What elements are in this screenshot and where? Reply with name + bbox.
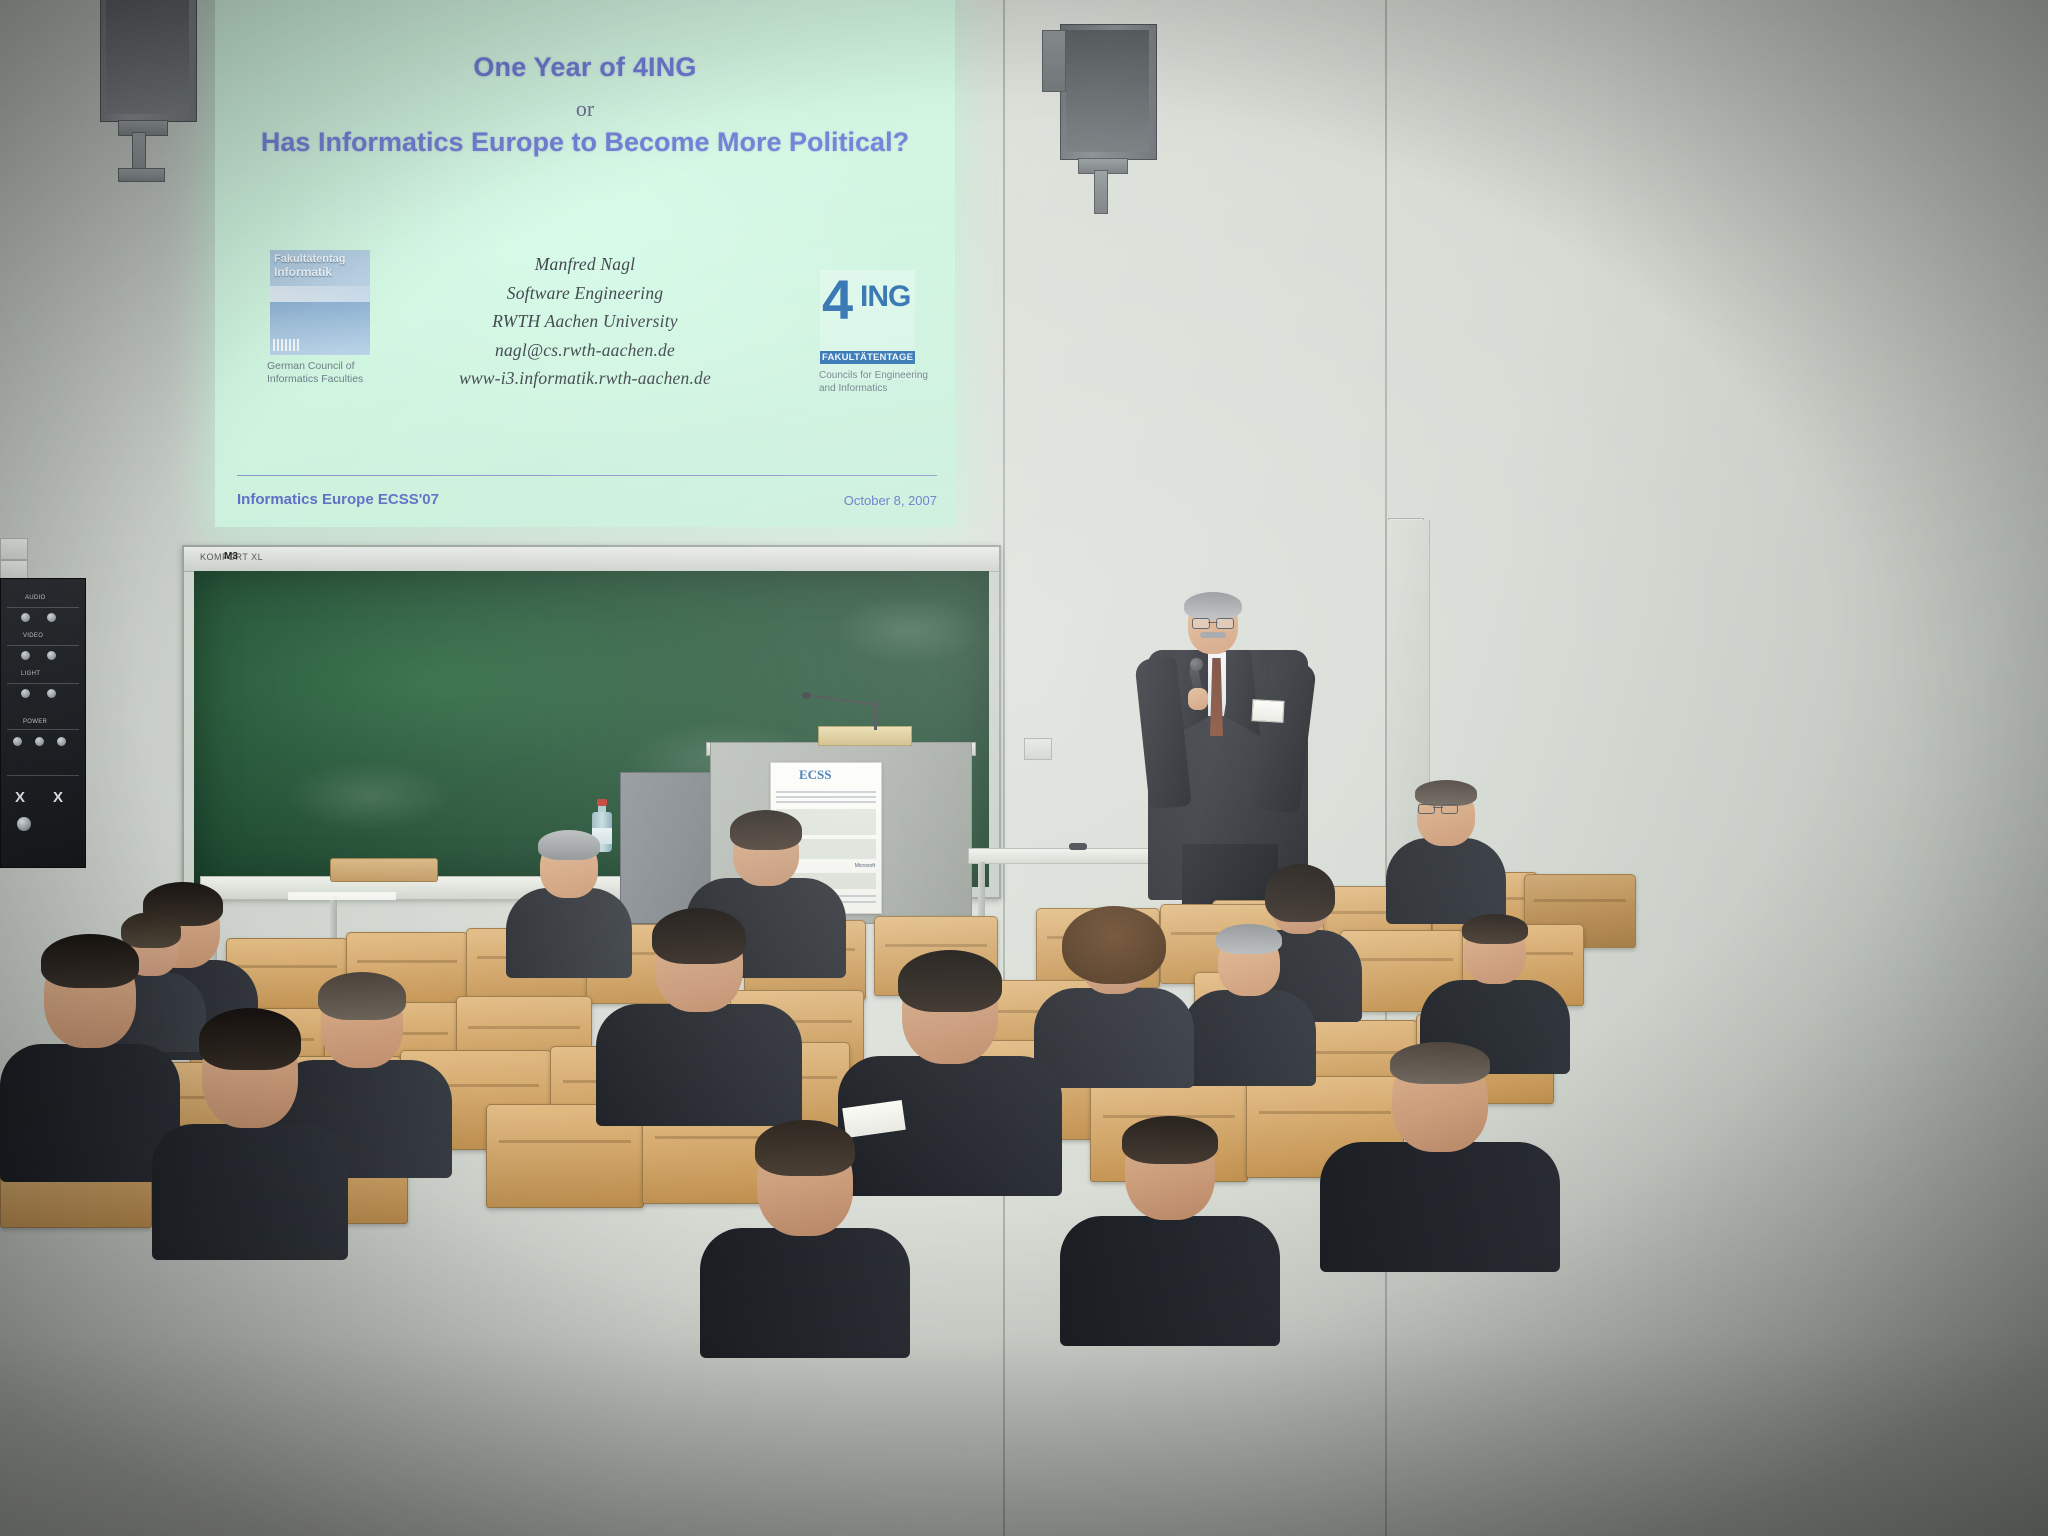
- panel-knob[interactable]: [35, 737, 44, 746]
- eyeglasses-icon: [1192, 618, 1234, 627]
- panel-knob[interactable]: [47, 613, 56, 622]
- av-control-panel[interactable]: AUDIO VIDEO LIGHT POWER X X: [0, 578, 86, 868]
- panel-knob[interactable]: [57, 737, 66, 746]
- chalk-tray: KOMFORT XL M3: [184, 547, 999, 572]
- person-hair: [730, 810, 802, 850]
- person-hair: [1265, 864, 1335, 922]
- person-hair: [1062, 906, 1166, 984]
- wall-plate-lower: [0, 560, 28, 580]
- person-hair: [41, 934, 139, 988]
- audience-person: [596, 908, 802, 1120]
- panel-knob[interactable]: [13, 737, 22, 746]
- chalk-smudge: [284, 761, 454, 831]
- wall-speaker-right: [1060, 24, 1155, 158]
- lecture-hall-photo: One Year of 4ING or Has Informatics Euro…: [0, 0, 2048, 1536]
- caption-line-1: Councils for Engineering: [819, 370, 949, 383]
- person-shoulders: [1182, 990, 1316, 1086]
- audience-person: [1182, 924, 1316, 1070]
- presenter-hand: [1188, 688, 1208, 710]
- person-hair: [652, 908, 746, 964]
- chalk-smudge: [834, 595, 984, 665]
- slide-connector: or: [215, 96, 955, 122]
- person-hair: [1415, 780, 1477, 806]
- microphone-head-icon: [802, 692, 811, 699]
- audience-person: [1320, 1042, 1560, 1262]
- caption-line-2: and Informatics: [819, 383, 949, 396]
- board-label-brand: M3: [224, 551, 238, 562]
- person-hair: [755, 1120, 855, 1176]
- wall-seam: [1003, 0, 1005, 1536]
- speaker-cable-conduit-right: [1042, 30, 1066, 92]
- front-chair[interactable]: [330, 858, 438, 882]
- slide-footer-left: Informatics Europe ECSS'07: [237, 491, 439, 508]
- person-hair: [199, 1008, 301, 1070]
- ecss-logo-text: ECSS: [799, 767, 832, 783]
- audience-person: [152, 1008, 348, 1248]
- ecss-logo: ECSS: [799, 767, 851, 787]
- panel-knob[interactable]: [21, 689, 30, 698]
- podium-shelf-item: [818, 726, 912, 746]
- panel-knob[interactable]: [21, 613, 30, 622]
- slide-title: One Year of 4ING: [215, 52, 955, 83]
- table-papers: [288, 892, 396, 900]
- audience-person: [700, 1118, 910, 1338]
- speaker-grille: [106, 0, 189, 114]
- person-hair: [1462, 914, 1528, 944]
- presenter-hair: [1184, 592, 1242, 620]
- audience-person: [1060, 1120, 1280, 1340]
- eyeglasses-icon: [1418, 804, 1458, 812]
- slide-divider: [237, 475, 937, 476]
- person-shoulders: [1320, 1142, 1560, 1272]
- person-hair: [538, 830, 600, 860]
- 4ing-logo-caption: Councils for Engineering and Informatics: [819, 370, 949, 395]
- speaker-grille: [1066, 30, 1149, 152]
- 4ing-logo: 4 ING FAKULTÄTENTAGE: [820, 270, 915, 380]
- speaker-arm-right: [1094, 170, 1108, 214]
- speaker-bracket-left: [118, 168, 165, 182]
- 4ing-logo-numeral: 4: [822, 272, 853, 328]
- person-hair: [898, 950, 1002, 1012]
- person-hair: [1122, 1116, 1218, 1164]
- wall-speaker-left: [100, 0, 195, 120]
- presenter-moustache: [1200, 632, 1226, 638]
- 4ing-logo-word: ING: [860, 280, 910, 314]
- person-shoulders: [700, 1228, 910, 1358]
- person-shoulders: [1060, 1216, 1280, 1346]
- panel-knob[interactable]: [21, 651, 30, 660]
- panel-knob[interactable]: [47, 651, 56, 660]
- person-hair: [1216, 924, 1282, 954]
- 4ing-logo-band-text: FAKULTÄTENTAGE: [822, 351, 913, 364]
- name-badge: [1251, 699, 1284, 723]
- slide-content: One Year of 4ING or Has Informatics Euro…: [215, 0, 955, 527]
- panel-dial[interactable]: [17, 817, 31, 831]
- panel-knob[interactable]: [47, 689, 56, 698]
- slide-footer-right: October 8, 2007: [844, 493, 937, 508]
- person-shoulders: [152, 1124, 348, 1260]
- side-table-object: [1069, 843, 1087, 850]
- projection-screen: One Year of 4ING or Has Informatics Euro…: [215, 0, 955, 527]
- wall-plate-upper: [0, 538, 28, 560]
- person-hair: [1390, 1042, 1490, 1084]
- audience-person: [1386, 782, 1506, 912]
- light-switch[interactable]: [1024, 738, 1052, 760]
- person-shoulders: [596, 1004, 802, 1126]
- slide-subtitle: Has Informatics Europe to Become More Po…: [215, 127, 955, 158]
